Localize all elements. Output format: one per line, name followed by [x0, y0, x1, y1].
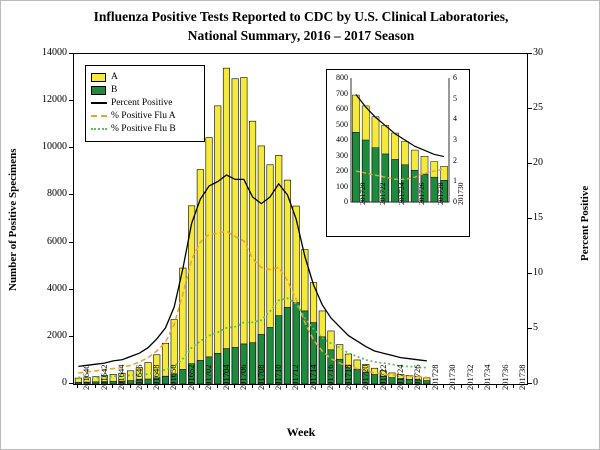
x-tick-label-10: 201650: [168, 365, 178, 391]
y-tick-left-4: 8000: [25, 188, 67, 199]
bar-a: [197, 170, 203, 385]
legend-label-0: A: [111, 71, 118, 83]
x-tick-label-32: 201720: [360, 365, 370, 391]
legend-label-1: B: [111, 84, 117, 96]
x-tickmark-4: [112, 384, 113, 388]
x-tick-label-22: 201710: [273, 365, 283, 391]
legend-label-3: % Positive Flu A: [111, 110, 176, 122]
chart-figure: Influenza Positive Tests Reported to CDC…: [0, 0, 600, 450]
inset-y-tick-left-5: 500: [326, 120, 348, 129]
x-tickmark-38: [408, 384, 409, 388]
x-tickmark-48: [496, 384, 497, 388]
y-tickmark-left-0: [69, 383, 73, 384]
legend-item-0: A: [91, 71, 199, 83]
inset-x-tick-1: 201722: [378, 183, 387, 206]
x-tick-label-0: 201640: [81, 365, 91, 391]
chart-title-line-2: National Summary, 2016 – 2017 Season: [1, 26, 600, 45]
y-tickmark-right-3: [528, 218, 532, 219]
inset-y-tick-left-1: 100: [326, 182, 348, 191]
y-tick-left-7: 14000: [25, 47, 67, 58]
y-tickmark-left-3: [69, 242, 73, 243]
y-tickmark-right-4: [528, 163, 532, 164]
x-tickmark-36: [391, 384, 392, 388]
y-tick-left-1: 2000: [25, 330, 67, 341]
x-tickmark-32: [356, 384, 357, 388]
x-tickmark-40: [426, 384, 427, 388]
y-tickmark-left-2: [69, 289, 73, 290]
x-tickmark-44: [461, 384, 462, 388]
x-tick-label-40: 201728: [430, 365, 440, 391]
x-tickmark-46: [478, 384, 479, 388]
inset-y-tick-right-2: 2: [453, 156, 469, 165]
chart-title-line-1: Influenza Positive Tests Reported to CDC…: [1, 7, 600, 26]
inset-y-tick-left-6: 600: [326, 104, 348, 113]
inset-y-tick-left-0: 0: [326, 197, 348, 206]
x-tick-label-38: 201726: [412, 365, 422, 391]
inset-y-tick-right-3: 3: [453, 135, 469, 144]
y-tick-left-6: 12000: [25, 94, 67, 105]
inset-x-tick-5: 201730: [456, 183, 465, 206]
bar-a: [206, 138, 212, 384]
bar-a: [223, 68, 229, 384]
x-tickmark-22: [269, 384, 270, 388]
x-tickmark-8: [147, 384, 148, 388]
x-tick-label-30: 201718: [343, 365, 353, 391]
y-tickmark-right-0: [528, 383, 532, 384]
legend-swatch-0: [91, 73, 106, 82]
bar-b: [371, 375, 377, 384]
inset-y-tick-left-7: 700: [326, 89, 348, 98]
x-tick-label-50: 201738: [517, 365, 527, 391]
inset-x-tick-4: 201728: [436, 183, 445, 206]
x-tick-label-24: 201712: [290, 365, 300, 391]
x-tick-label-44: 201732: [465, 365, 475, 391]
x-tick-label-6: 201646: [134, 365, 144, 391]
x-tickmark-10: [164, 384, 165, 388]
x-tick-label-28: 201716: [325, 365, 335, 391]
y-tickmark-right-6: [528, 53, 532, 54]
y-tickmark-right-1: [528, 328, 532, 329]
bar-b: [249, 343, 255, 384]
x-tickmark-20: [252, 384, 253, 388]
x-tickmark-50: [513, 384, 514, 388]
y-tick-left-0: 0: [25, 377, 67, 388]
inset-y-tick-right-4: 4: [453, 114, 469, 123]
x-tickmark-14: [199, 384, 200, 388]
x-tick-label-20: 201708: [256, 365, 266, 391]
legend-swatch-4: [91, 128, 107, 130]
x-tickmark-16: [217, 384, 218, 388]
x-tickmark-30: [339, 384, 340, 388]
inset-y-tick-left-2: 200: [326, 166, 348, 175]
x-tick-label-16: 201704: [221, 365, 231, 391]
chart-title: Influenza Positive Tests Reported to CDC…: [1, 7, 600, 45]
y-tickmark-left-4: [69, 194, 73, 195]
x-tick-label-42: 201730: [447, 365, 457, 391]
x-tick-label-14: 201702: [203, 365, 213, 391]
bar-b: [215, 353, 221, 384]
x-tickmark-34: [374, 384, 375, 388]
y-tick-left-2: 4000: [25, 283, 67, 294]
inset-y-tick-right-5: 5: [453, 94, 469, 103]
x-tickmark-24: [286, 384, 287, 388]
legend-label-4: % Positive Flu B: [111, 123, 176, 135]
legend-item-2: Percent Positive: [91, 97, 199, 109]
y-tick-left-3: 6000: [25, 236, 67, 247]
x-tickmark-42: [443, 384, 444, 388]
legend-swatch-2: [91, 102, 107, 104]
inset-x-tick-2: 201724: [397, 183, 406, 206]
inset-y-tick-left-8: 800: [326, 73, 348, 82]
legend-swatch-1: [91, 86, 106, 95]
x-tickmark-26: [304, 384, 305, 388]
y-tick-right-1: 5: [533, 322, 563, 333]
x-tick-label-46: 201734: [482, 365, 492, 391]
bar-a: [215, 106, 221, 384]
x-tick-label-36: 201724: [395, 365, 405, 391]
y-tick-left-5: 10000: [25, 141, 67, 152]
y-tick-right-6: 30: [533, 47, 563, 58]
x-tick-label-12: 201652: [186, 365, 196, 391]
y-tick-right-2: 10: [533, 267, 563, 278]
inset-x-tick-0: 201720: [358, 183, 367, 206]
inset-y-tick-right-6: 6: [453, 73, 469, 82]
bar-a: [241, 78, 247, 384]
legend-label-2: Percent Positive: [111, 97, 172, 109]
y-tick-right-4: 20: [533, 157, 563, 168]
legend-swatch-3: [91, 115, 107, 117]
inset-y-tick-left-4: 400: [326, 135, 348, 144]
x-tickmark-6: [130, 384, 131, 388]
y-tick-right-3: 15: [533, 212, 563, 223]
x-tick-label-8: 201648: [151, 365, 161, 391]
legend-item-3: % Positive Flu A: [91, 110, 199, 122]
inset-x-tick-3: 201726: [417, 183, 426, 206]
y-tickmark-left-6: [69, 100, 73, 101]
y-tickmark-right-5: [528, 108, 532, 109]
x-tick-label-2: 201642: [99, 365, 109, 391]
y-tickmark-left-5: [69, 147, 73, 148]
y-tickmark-left-7: [69, 53, 73, 54]
y-axis-label-right: Percent Positive: [579, 186, 591, 261]
y-axis-label-left: Number of Positive Specimens: [7, 275, 19, 291]
x-tickmark-12: [182, 384, 183, 388]
bar-a: [232, 79, 238, 384]
x-tickmark-18: [234, 384, 235, 388]
legend-item-1: B: [91, 84, 199, 96]
legend-item-4: % Positive Flu B: [91, 123, 199, 135]
inset-y-tick-left-3: 300: [326, 151, 348, 160]
x-tick-label-4: 201644: [116, 365, 126, 391]
x-tick-label-34: 201722: [378, 365, 388, 391]
y-tick-right-5: 25: [533, 102, 563, 113]
x-tick-label-48: 201736: [500, 365, 510, 391]
x-tick-label-26: 201714: [308, 365, 318, 391]
x-tickmark-28: [321, 384, 322, 388]
inset-svg: [327, 70, 469, 236]
y-tick-right-0: 0: [533, 377, 563, 388]
y-tickmark-right-2: [528, 273, 532, 274]
x-axis-label: Week: [1, 425, 600, 440]
x-tickmark-2: [95, 384, 96, 388]
x-tick-label-18: 201706: [238, 365, 248, 391]
x-tickmark-0: [77, 384, 78, 388]
chart-legend: ABPercent Positive% Positive Flu A% Posi…: [85, 65, 205, 142]
y-tickmark-left-1: [69, 336, 73, 337]
bar-b: [127, 381, 133, 384]
